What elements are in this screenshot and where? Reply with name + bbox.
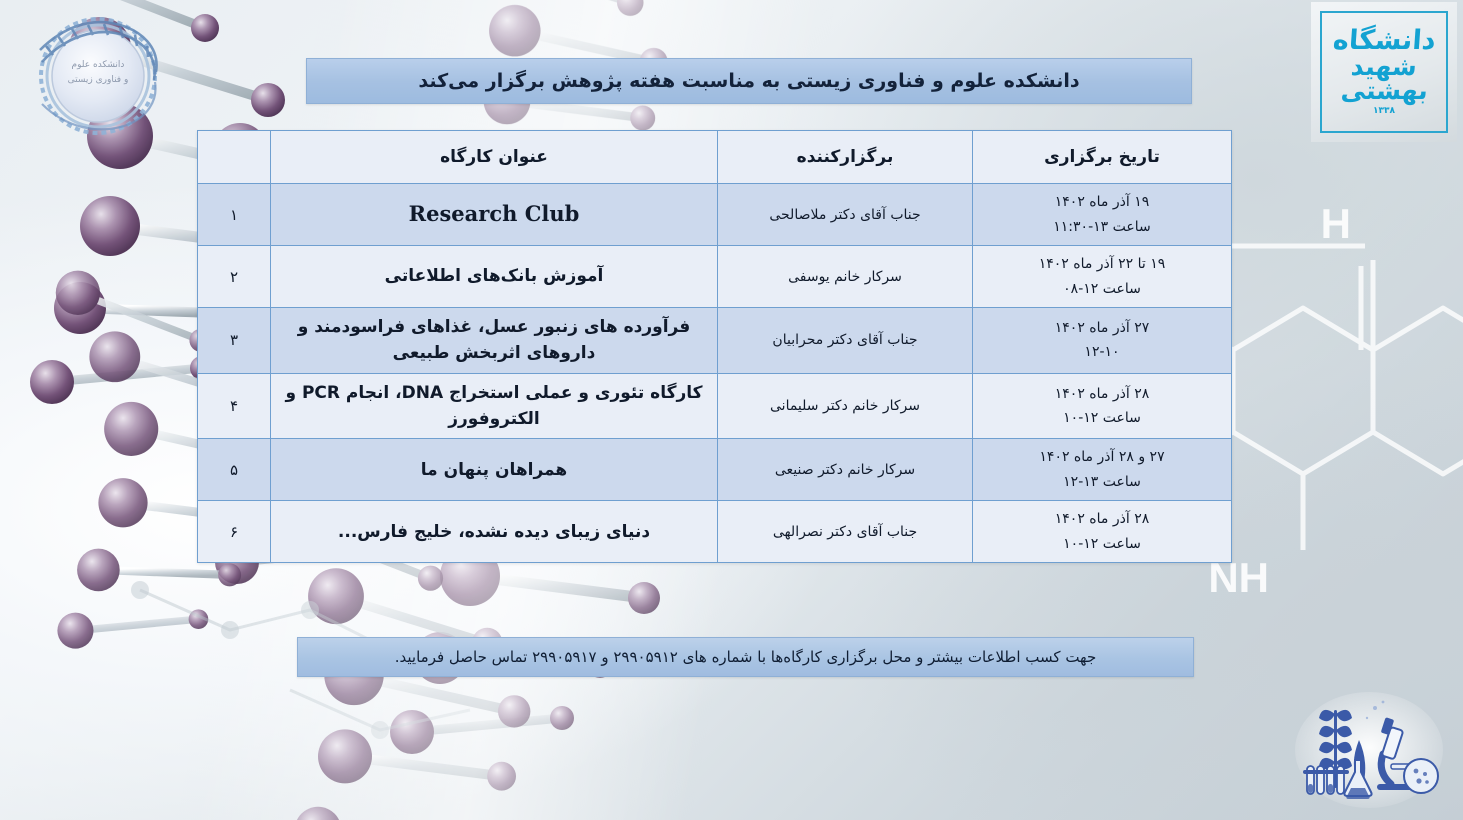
cell-number: ۴: [198, 373, 271, 439]
cell-host: سرکار خانم دکتر سلیمانی: [718, 373, 973, 439]
cell-host: جناب آقای دکتر نصرالهی: [718, 501, 973, 563]
poster-canvas: CH 3 H NH: [0, 0, 1463, 820]
university-logo-year: ۱۳۳۸: [1373, 106, 1395, 116]
schedule-table-wrapper: تاریخ برگزاری برگزارکننده عنوان کارگاه ۱…: [262, 130, 1232, 563]
cell-title: آموزش بانک‌های اطلاعاتی: [271, 246, 718, 308]
biology-lab-illustration: [1291, 688, 1447, 814]
cell-date-line2: ۱۲-۱۰: [981, 340, 1223, 365]
cell-host: جناب آقای دکتر محرابیان: [718, 308, 973, 374]
workshop-schedule-table: تاریخ برگزاری برگزارکننده عنوان کارگاه ۱…: [197, 130, 1232, 563]
cell-host: سرکار خانم یوسفی: [718, 246, 973, 308]
cell-host: سرکار خانم دکتر صنیعی: [718, 439, 973, 501]
cell-number: ۶: [198, 501, 271, 563]
cell-date-line1: ۱۹ تا ۲۲ آذر ماه ۱۴۰۲: [981, 252, 1223, 277]
cell-date-line2: ساعت ۱۳-۱۱:۳۰: [981, 215, 1223, 240]
column-header-title: عنوان کارگاه: [271, 131, 718, 184]
title-banner: دانشکده علوم و فناوری زیستی به مناسبت هف…: [306, 58, 1192, 104]
cell-date: ۲۸ آذر ماه ۱۴۰۲ساعت ۱۲-۱۰: [973, 501, 1232, 563]
faculty-seal: دانشکده علوم و فناوری زیستی: [14, 12, 182, 140]
university-logo-line2: شهید: [1350, 55, 1417, 79]
contact-banner-text: جهت کسب اطلاعات بیشتر و محل برگزاری کارگ…: [395, 648, 1097, 666]
cell-date-line1: ۲۸ آذر ماه ۱۴۰۲: [981, 507, 1223, 532]
table-row: ۲۷ آذر ماه ۱۴۰۲۱۲-۱۰جناب آقای دکتر محراب…: [198, 308, 1232, 374]
biology-lab-graphic: [1291, 688, 1447, 814]
faculty-seal-line2: و فناوری زیستی: [14, 73, 182, 88]
faculty-seal-line1: دانشکده علوم: [14, 58, 182, 73]
university-logo-line1: دانشگاه: [1332, 28, 1436, 54]
cell-title: همراهان پنهان ما: [271, 439, 718, 501]
cell-title: Research Club: [271, 184, 718, 246]
faculty-seal-text: دانشکده علوم و فناوری زیستی: [14, 58, 182, 88]
column-header-host: برگزارکننده: [718, 131, 973, 184]
cell-number: ۲: [198, 246, 271, 308]
cell-date-line1: ۲۷ آذر ماه ۱۴۰۲: [981, 316, 1223, 341]
cell-number: ۳: [198, 308, 271, 374]
cell-number: ۵: [198, 439, 271, 501]
table-row: ۲۷ و ۲۸ آذر ماه ۱۴۰۲ساعت ۱۳-۱۲سرکار خانم…: [198, 439, 1232, 501]
cell-date-line2: ساعت ۱۲-۱۰: [981, 406, 1223, 431]
contact-banner: جهت کسب اطلاعات بیشتر و محل برگزاری کارگ…: [297, 637, 1194, 677]
column-header-number: [198, 131, 271, 184]
shahid-beheshti-university-logo: دانشگاه شهید بهشتی ۱۳۳۸: [1311, 2, 1457, 142]
table-row: ۲۸ آذر ماه ۱۴۰۲ساعت ۱۲-۱۰جناب آقای دکتر …: [198, 501, 1232, 563]
cell-date-line1: ۲۷ و ۲۸ آذر ماه ۱۴۰۲: [981, 445, 1223, 470]
cell-date: ۲۷ و ۲۸ آذر ماه ۱۴۰۲ساعت ۱۳-۱۲: [973, 439, 1232, 501]
table-row: ۱۹ تا ۲۲ آذر ماه ۱۴۰۲ساعت ۱۲-۰۸سرکار خان…: [198, 246, 1232, 308]
cell-date: ۲۸ آذر ماه ۱۴۰۲ساعت ۱۲-۱۰: [973, 373, 1232, 439]
cell-date-line2: ساعت ۱۳-۱۲: [981, 470, 1223, 495]
cell-date: ۲۷ آذر ماه ۱۴۰۲۱۲-۱۰: [973, 308, 1232, 374]
cell-date: ۱۹ تا ۲۲ آذر ماه ۱۴۰۲ساعت ۱۲-۰۸: [973, 246, 1232, 308]
cell-date-line2: ساعت ۱۲-۱۰: [981, 532, 1223, 557]
cell-host: جناب آقای دکتر ملاصالحی: [718, 184, 973, 246]
table-row: ۱۹ آذر ماه ۱۴۰۲ساعت ۱۳-۱۱:۳۰جناب آقای دک…: [198, 184, 1232, 246]
cell-date-line2: ساعت ۱۲-۰۸: [981, 277, 1223, 302]
cell-date: ۱۹ آذر ماه ۱۴۰۲ساعت ۱۳-۱۱:۳۰: [973, 184, 1232, 246]
table-header-row: تاریخ برگزاری برگزارکننده عنوان کارگاه: [198, 131, 1232, 184]
cell-title: فرآورده های زنبور عسل، غذاهای فراسودمند …: [271, 308, 718, 374]
university-logo-line3: بهشتی: [1340, 79, 1429, 103]
cell-title: کارگاه تئوری و عملی استخراج DNA، انجام P…: [271, 373, 718, 439]
cell-number: ۱: [198, 184, 271, 246]
title-banner-text: دانشکده علوم و فناوری زیستی به مناسبت هف…: [418, 70, 1079, 92]
table-body: ۱۹ آذر ماه ۱۴۰۲ساعت ۱۳-۱۱:۳۰جناب آقای دک…: [198, 184, 1232, 563]
cell-date-line1: ۲۸ آذر ماه ۱۴۰۲: [981, 382, 1223, 407]
column-header-date: تاریخ برگزاری: [973, 131, 1232, 184]
cell-title: دنیای زیبای دیده نشده، خلیج فارس...: [271, 501, 718, 563]
table-head: تاریخ برگزاری برگزارکننده عنوان کارگاه: [198, 131, 1232, 184]
university-logo-calligraphy: دانشگاه شهید بهشتی ۱۳۳۸: [1320, 11, 1448, 133]
table-row: ۲۸ آذر ماه ۱۴۰۲ساعت ۱۲-۱۰سرکار خانم دکتر…: [198, 373, 1232, 439]
cell-date-line1: ۱۹ آذر ماه ۱۴۰۲: [981, 190, 1223, 215]
cell-icon: [1404, 759, 1438, 793]
